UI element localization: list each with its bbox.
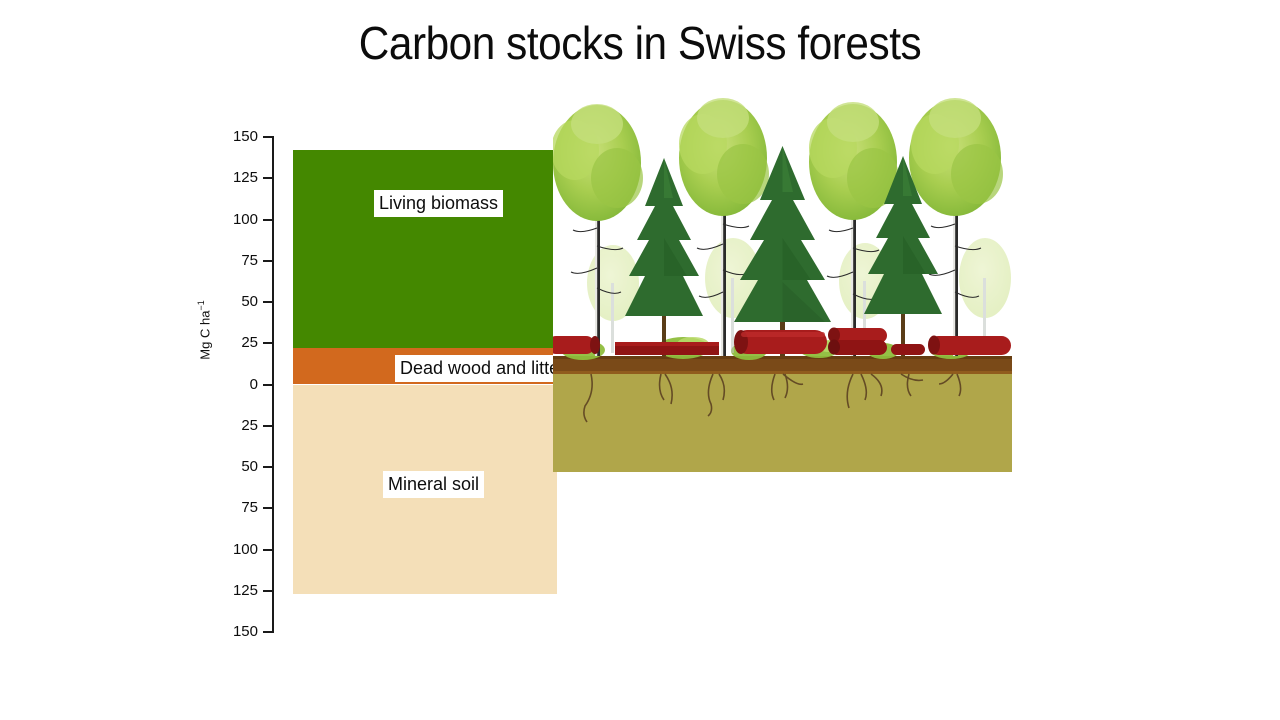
bar-living-biomass[interactable] xyxy=(293,150,553,348)
y-axis-label-base: Mg C ha xyxy=(197,311,212,360)
y-axis-tick-label: 25 xyxy=(214,418,258,433)
y-axis-tick-label: 75 xyxy=(214,500,258,515)
y-axis-tick-label: 0 xyxy=(214,377,258,392)
y-axis-tick xyxy=(263,631,272,633)
y-axis-tick xyxy=(263,301,272,303)
y-axis-tick-label: 50 xyxy=(214,294,258,309)
y-axis-tick xyxy=(263,466,272,468)
y-axis-tick-label: 25 xyxy=(214,335,258,350)
label-living-biomass: Living biomass xyxy=(374,190,503,217)
y-axis-tick-label: 50 xyxy=(214,459,258,474)
y-axis-tick-label: 125 xyxy=(214,583,258,598)
y-axis-tick xyxy=(263,425,272,427)
y-axis-tick xyxy=(263,260,272,262)
y-axis-tick xyxy=(263,590,272,592)
y-axis-label-exponent: −1 xyxy=(196,300,206,310)
y-axis-tick xyxy=(263,219,272,221)
y-axis-tick xyxy=(263,136,272,138)
y-axis-tick xyxy=(263,384,272,386)
y-axis-tick-label: 100 xyxy=(214,542,258,557)
y-axis-tick-labels: 1501251007550250255075100125150 xyxy=(214,0,258,720)
y-axis-tick xyxy=(263,342,272,344)
y-axis-line xyxy=(272,136,274,633)
label-mineral-soil: Mineral soil xyxy=(383,471,484,498)
y-axis-tick xyxy=(263,549,272,551)
y-axis-tick xyxy=(263,507,272,509)
label-dead-wood-and-litter: Dead wood and litter xyxy=(395,355,570,382)
y-axis-tick-label: 150 xyxy=(214,129,258,144)
y-axis-tick-label: 75 xyxy=(214,253,258,268)
forest-profile-illustration xyxy=(553,78,1012,472)
y-axis-label: Mg C ha−1 xyxy=(196,270,212,390)
y-axis-tick xyxy=(263,177,272,179)
y-axis-tick-label: 125 xyxy=(214,170,258,185)
y-axis-tick-label: 150 xyxy=(214,624,258,639)
carbon-stocks-stacked-bar-chart: Mg C ha−1 150125100755025025507510012515… xyxy=(0,0,1280,720)
y-axis-tick-label: 100 xyxy=(214,212,258,227)
